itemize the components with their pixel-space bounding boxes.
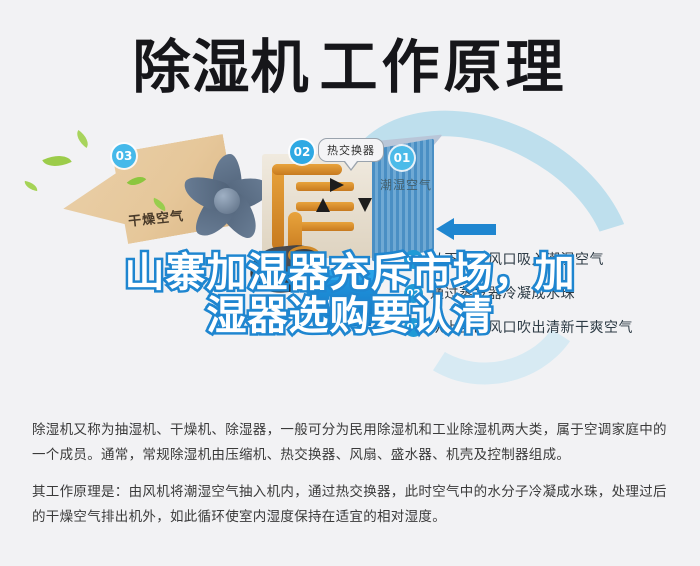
step-badge: 03: [404, 318, 423, 337]
leaf-icon: [42, 149, 71, 173]
leaf-icon: [73, 130, 93, 148]
page-title: 除湿机工作原理: [0, 34, 700, 100]
fan-hub: [214, 188, 240, 214]
list-item: 01 从下部进风口吸入潮湿空气: [404, 246, 700, 280]
body-copy: 除湿机又称为抽湿机、干燥机、除湿器，一般可分为民用除湿机和工业除湿机两大类，属于…: [32, 418, 672, 530]
list-item: 02 通过蒸发器冷凝成水珠: [404, 280, 700, 314]
leaf-icon: [23, 181, 38, 191]
flow-arrow-up-icon: [316, 198, 330, 212]
flow-arrow-down-icon: [358, 198, 372, 212]
refrigerant-coil: [296, 182, 354, 191]
compressor-ring: [288, 246, 320, 264]
paragraph-spacer: [32, 468, 672, 480]
body-paragraph-1: 除湿机又称为抽湿机、干燥机、除湿器，一般可分为民用除湿机和工业除湿机两大类，属于…: [32, 418, 672, 468]
water-tank-icon: 水箱: [300, 270, 386, 326]
list-item: 03 从上部出风口吹出清新干爽空气: [404, 314, 700, 348]
illustration-stage: 干燥空气: [0, 120, 700, 410]
title-segment-product: 除湿机: [132, 33, 309, 101]
step-text: 从上部出风口吹出清新干爽空气: [430, 317, 633, 337]
air-inlet-arrow-head-icon: [436, 218, 454, 240]
step-text: 从下部进风口吸入潮湿空气: [430, 249, 604, 269]
diagram-badge-02: 02: [290, 140, 314, 164]
step-list: 01 从下部进风口吸入潮湿空气 02 通过蒸发器冷凝成水珠 03 从上部出风口吹…: [404, 246, 700, 348]
step-text: 通过蒸发器冷凝成水珠: [430, 283, 575, 303]
water-tank-label: 水箱: [324, 294, 350, 311]
air-inlet-arrow-bar: [452, 224, 496, 235]
diagram-badge-01: 01: [390, 146, 414, 170]
heat-exchanger-callout: 热交换器: [318, 138, 384, 162]
refrigerant-coil: [272, 164, 342, 175]
flow-arrow-right-icon: [330, 178, 344, 192]
refrigerant-coil: [272, 164, 284, 250]
infographic-page: 除湿机工作原理 干燥空气: [0, 0, 700, 566]
step-badge: 02: [404, 284, 423, 303]
refrigerant-coil: [296, 222, 354, 231]
step-badge: 01: [404, 250, 423, 269]
body-paragraph-2: 其工作原理是：由风机将潮湿空气抽入机内，通过热交换器，此时空气中的水分子冷凝成水…: [32, 480, 672, 530]
title-segment-topic: 工作原理: [320, 33, 568, 101]
diagram-badge-03: 03: [112, 144, 136, 168]
title-text: 除湿机工作原理: [132, 34, 567, 100]
humid-air-label: 潮湿空气: [380, 176, 432, 193]
